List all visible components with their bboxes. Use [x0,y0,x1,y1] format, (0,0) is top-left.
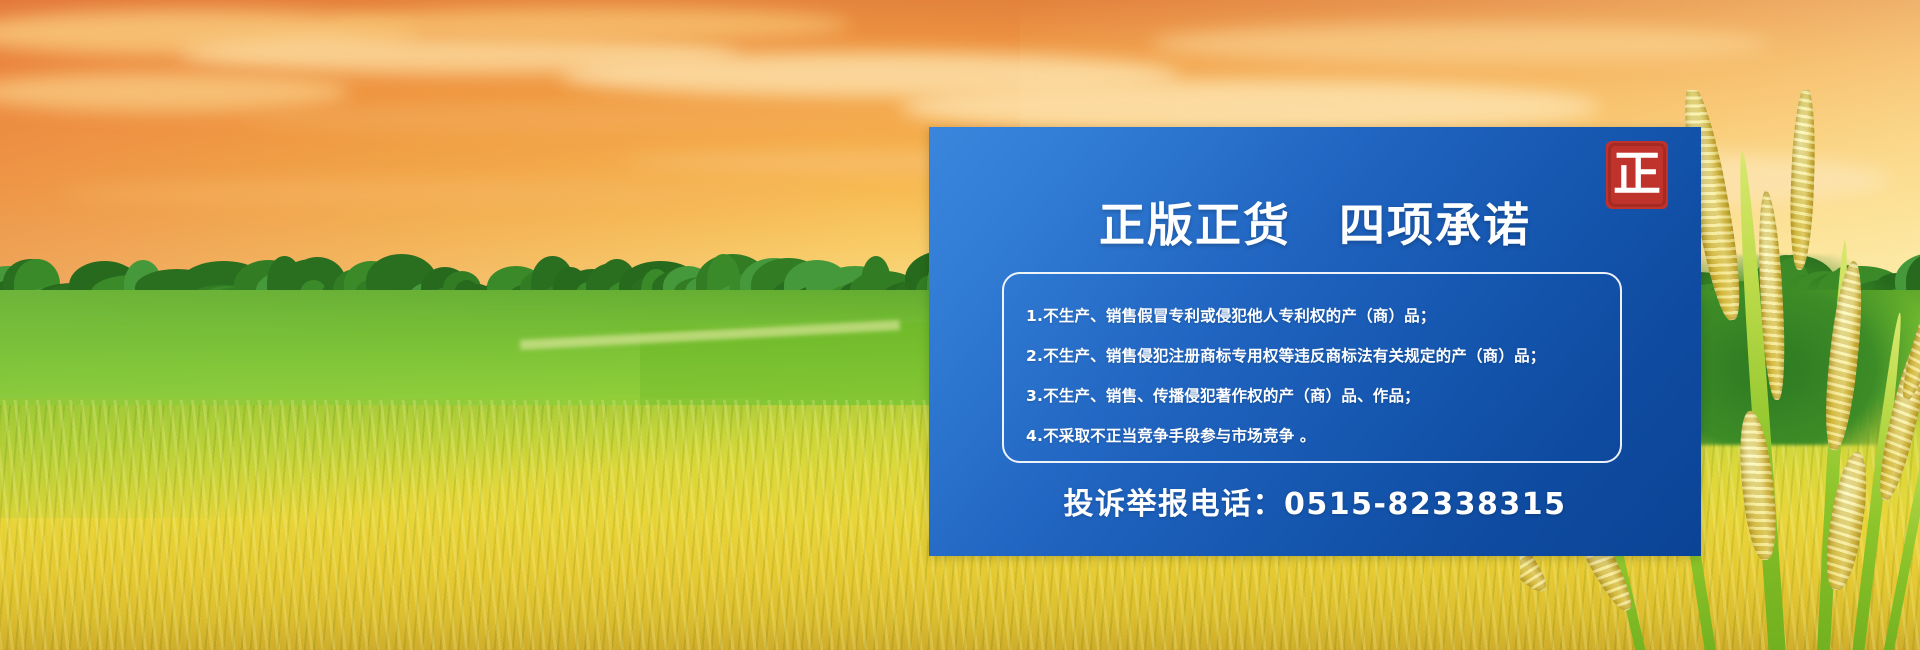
cloud [330,8,850,42]
complaint-hotline: 投诉举报电话：0515-82338315 [929,479,1701,523]
cloud [240,104,940,134]
rice-ear [1820,260,1867,452]
banner-stage: 正 正版正货 四项承诺 1.不生产、销售假冒专利或侵犯他人专利权的产（商）品； … [0,0,1920,650]
promise-list-box: 1.不生产、销售假冒专利或侵犯他人专利权的产（商）品； 2.不生产、销售侵犯注册… [1002,272,1622,463]
promise-panel: 正 正版正货 四项承诺 1.不生产、销售假冒专利或侵犯他人专利权的产（商）品； … [929,127,1701,556]
cloud [1150,24,1770,64]
promise-item: 4.不采取不正当竞争手段参与市场竞争 。 [1026,416,1598,456]
promise-item: 3.不生产、销售、传播侵犯著作权的产（商）品、作品； [1026,376,1598,416]
panel-title: 正版正货 四项承诺 [929,189,1701,255]
cloud [60,180,820,206]
cloud [900,80,1600,134]
promise-item: 2.不生产、销售侵犯注册商标专用权等违反商标法有关规定的产（商）品； [1026,336,1598,376]
rice-ear [1788,90,1818,270]
promise-item: 1.不生产、销售假冒专利或侵犯他人专利权的产（商）品； [1026,296,1598,336]
